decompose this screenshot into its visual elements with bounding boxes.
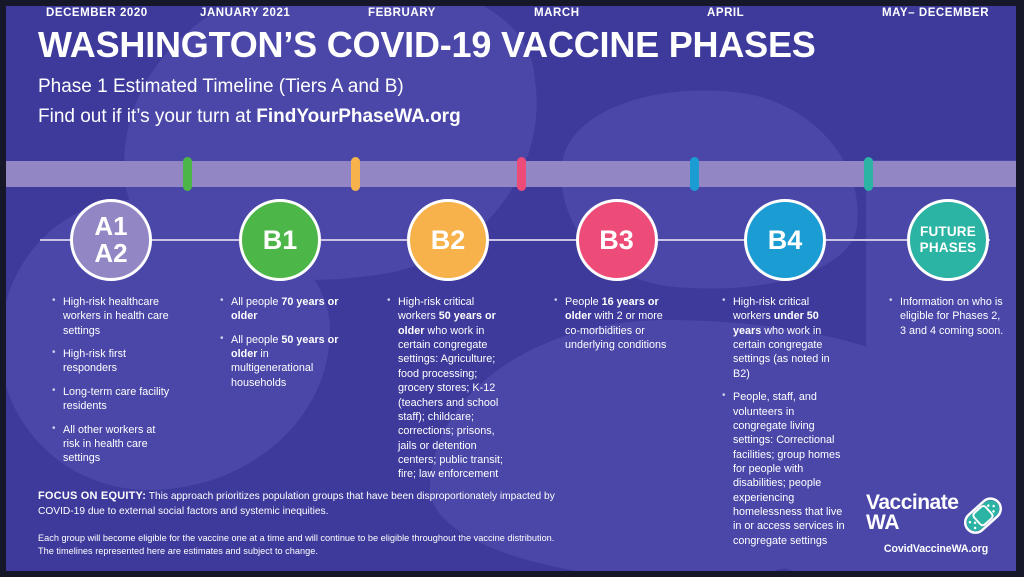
phase-bubble-line: B1 [263, 227, 298, 254]
phase-column-b1: B1All people 70 years or olderAll people… [220, 199, 340, 399]
bullet-text: People, staff, and volunteers in congreg… [733, 391, 845, 547]
list-item: People 16 years or older with 2 or more … [554, 295, 679, 352]
phase-bubble-line: PHASES [920, 240, 977, 256]
logo-wordmark-row: Vaccinate WA [866, 490, 1006, 536]
phase-bubble-line: A2 [94, 240, 127, 267]
phase-bullet-list: Information on who is eligible for Phase… [889, 295, 1007, 338]
phase-bubble-label: FUTUREPHASES [920, 224, 977, 255]
bandage-icon [961, 496, 1006, 536]
focus-on-equity-note: FOCUS ON EQUITY: This approach prioritiz… [38, 489, 568, 520]
list-item: All other workers at risk in health care… [52, 423, 170, 466]
frame-edge-bottom [0, 571, 1024, 577]
bullet-text: All other workers at risk in health care… [63, 424, 155, 465]
timeline-month-label: MARCH [534, 7, 580, 19]
infographic-poster: WASHINGTON’S COVID-19 VACCINE PHASES Pha… [0, 0, 1024, 577]
bullet-text: who work in certain congregate settings:… [398, 325, 503, 481]
findyourphasewa-link[interactable]: FindYourPhaseWA.org [256, 106, 460, 127]
phase-bubble-label: B3 [599, 227, 634, 254]
timeline-tick [690, 157, 699, 191]
list-item: All people 50 years or older in multigen… [220, 333, 340, 390]
bullet-text: People [565, 296, 602, 308]
phase-bubble-line: B4 [768, 227, 803, 254]
timeline-tick [864, 157, 873, 191]
logo-line-wa: WA [866, 513, 958, 533]
frame-edge-left [0, 0, 6, 577]
timeline-month-label: MAY– DECEMBER [882, 7, 989, 19]
list-item: High-risk critical workers 50 years or o… [387, 295, 509, 482]
logo-wordmark: Vaccinate WA [866, 493, 958, 532]
phase-bubble-label: A1A2 [94, 213, 127, 266]
footer-notes: FOCUS ON EQUITY: This approach prioritiz… [38, 489, 568, 559]
page-title: WASHINGTON’S COVID-19 VACCINE PHASES [38, 26, 938, 65]
find-your-phase-cta: Find out if it’s your turn at FindYourPh… [38, 106, 938, 128]
timeline-tick [351, 157, 360, 191]
timeline-tick [183, 157, 192, 191]
phase-column-a1-a2: A1A2High-risk healthcare workers in heal… [52, 199, 170, 475]
timeline-tick [517, 157, 526, 191]
page-subtitle: Phase 1 Estimated Timeline (Tiers A and … [38, 76, 938, 98]
phase-bubble-a1-a2[interactable]: A1A2 [70, 199, 152, 281]
list-item: Information on who is eligible for Phase… [889, 295, 1007, 338]
bullet-text: All people [231, 296, 281, 308]
list-item: People, staff, and volunteers in congreg… [722, 390, 848, 548]
phase-bubble-label: B1 [263, 227, 298, 254]
phase-bullet-list: High-risk critical workers under 50 year… [722, 295, 848, 548]
bullet-text: Information on who is eligible for Phase… [900, 296, 1003, 337]
phase-bubble-line: A1 [94, 213, 127, 240]
timeline-month-label: FEBRUARY [368, 7, 436, 19]
cta-prefix-text: Find out if it’s your turn at [38, 106, 256, 127]
logo-url-text[interactable]: CovidVaccineWA.org [866, 543, 1006, 555]
focus-on-equity-label: FOCUS ON EQUITY: [38, 490, 146, 502]
phase-bubble-line: B2 [431, 227, 466, 254]
bullet-text: Long-term care facility residents [63, 386, 169, 412]
timeline-month-label: DECEMBER 2020 [46, 7, 148, 19]
phase-bubble-b3[interactable]: B3 [576, 199, 658, 281]
bullet-text: High-risk first responders [63, 348, 126, 374]
frame-edge-right [1016, 0, 1024, 577]
phase-column-future-phases: FUTUREPHASESInformation on who is eligib… [889, 199, 1007, 347]
phase-bullet-list: All people 70 years or olderAll people 5… [220, 295, 340, 390]
bullet-text: All people [231, 334, 281, 346]
phase-bubble-future-phases[interactable]: FUTUREPHASES [907, 199, 989, 281]
list-item: High-risk critical workers under 50 year… [722, 295, 848, 381]
phase-bullet-list: High-risk critical workers 50 years or o… [387, 295, 509, 482]
phase-bubble-b2[interactable]: B2 [407, 199, 489, 281]
bullet-text: High-risk healthcare workers in health c… [63, 296, 169, 337]
timeline-disclaimer-note: Each group will become eligible for the … [38, 532, 568, 559]
phase-bubble-label: B2 [431, 227, 466, 254]
phase-bubble-b1[interactable]: B1 [239, 199, 321, 281]
frame-edge-top [0, 0, 1024, 6]
phase-column-b2: B2High-risk critical workers 50 years or… [387, 199, 509, 491]
phase-bubble-label: B4 [768, 227, 803, 254]
vaccinate-wa-logo[interactable]: Vaccinate WA [866, 490, 1006, 555]
phase-bubble-line: B3 [599, 227, 634, 254]
phase-bullet-list: People 16 years or older with 2 or more … [554, 295, 679, 352]
list-item: All people 70 years or older [220, 295, 340, 324]
phase-bubble-b4[interactable]: B4 [744, 199, 826, 281]
timeline-month-label: JANUARY 2021 [200, 7, 290, 19]
phase-column-b4: B4High-risk critical workers under 50 ye… [722, 199, 848, 557]
list-item: High-risk healthcare workers in health c… [52, 295, 170, 338]
list-item: Long-term care facility residents [52, 385, 170, 414]
phase-bullet-list: High-risk healthcare workers in health c… [52, 295, 170, 466]
header: WASHINGTON’S COVID-19 VACCINE PHASES Pha… [38, 26, 938, 128]
phase-column-b3: B3People 16 years or older with 2 or mor… [554, 199, 679, 361]
timeline-month-label: APRIL [707, 7, 744, 19]
phase-bubble-line: FUTURE [920, 224, 977, 240]
list-item: High-risk first responders [52, 347, 170, 376]
